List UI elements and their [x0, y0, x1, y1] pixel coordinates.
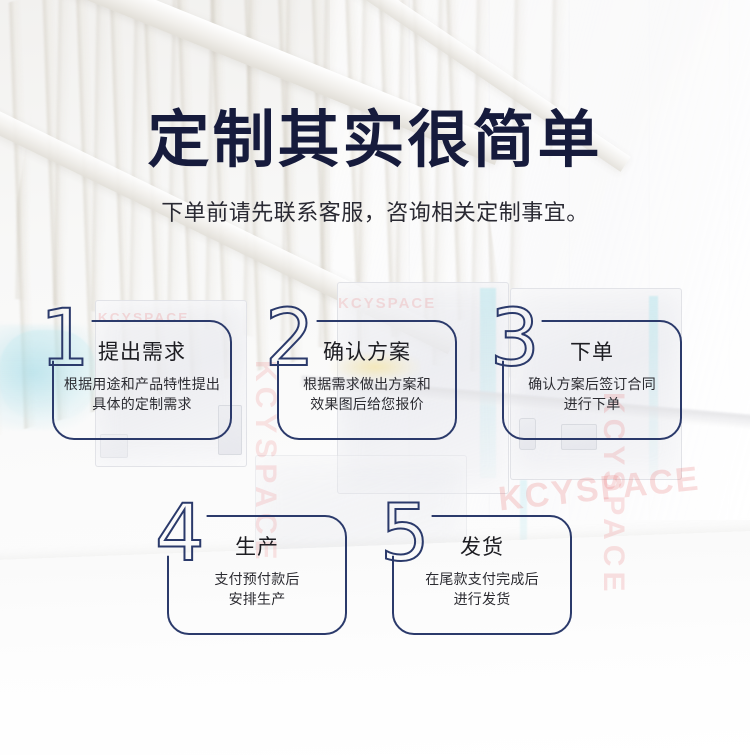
step-card-4: 4 生产 支付预付款后 安排生产 [155, 495, 347, 635]
step-content: 生产 支付预付款后 安排生产 [167, 531, 347, 610]
step-description: 根据需求做出方案和 效果图后给您报价 [277, 374, 457, 415]
step-description-line: 在尾款支付完成后 [392, 569, 572, 589]
step-description: 根据用途和产品特性提出 具体的定制需求 [52, 374, 232, 415]
step-card-1: 1 提出需求 根据用途和产品特性提出 具体的定制需求 [40, 300, 232, 440]
step-description-line: 安排生产 [167, 589, 347, 609]
step-description-line: 根据用途和产品特性提出 [52, 374, 232, 394]
step-description-line: 具体的定制需求 [52, 394, 232, 414]
step-description: 在尾款支付完成后 进行发货 [392, 569, 572, 610]
step-description: 支付预付款后 安排生产 [167, 569, 347, 610]
step-description-line: 支付预付款后 [167, 569, 347, 589]
step-description-line: 进行下单 [502, 394, 682, 414]
step-content: 下单 确认方案后签订合同 进行下单 [502, 336, 682, 415]
steps-list: 1 提出需求 根据用途和产品特性提出 具体的定制需求 2 确认方案 根据需求做出… [0, 0, 750, 755]
step-content: 确认方案 根据需求做出方案和 效果图后给您报价 [277, 336, 457, 415]
step-title: 确认方案 [277, 336, 457, 366]
step-description: 确认方案后签订合同 进行下单 [502, 374, 682, 415]
promo-banner: KCYSPACE KCYSPACE KCYSPACE KCYSPACE KCYS… [0, 0, 750, 755]
step-description-line: 确认方案后签订合同 [502, 374, 682, 394]
step-content: 提出需求 根据用途和产品特性提出 具体的定制需求 [52, 336, 232, 415]
step-description-line: 效果图后给您报价 [277, 394, 457, 414]
step-title: 生产 [167, 531, 347, 561]
step-description-line: 进行发货 [392, 589, 572, 609]
step-description-line: 根据需求做出方案和 [277, 374, 457, 394]
step-title: 发货 [392, 531, 572, 561]
step-title: 提出需求 [52, 336, 232, 366]
step-title: 下单 [502, 336, 682, 366]
step-card-5: 5 发货 在尾款支付完成后 进行发货 [380, 495, 572, 635]
step-card-2: 2 确认方案 根据需求做出方案和 效果图后给您报价 [265, 300, 457, 440]
step-card-3: 3 下单 确认方案后签订合同 进行下单 [490, 300, 682, 440]
step-content: 发货 在尾款支付完成后 进行发货 [392, 531, 572, 610]
